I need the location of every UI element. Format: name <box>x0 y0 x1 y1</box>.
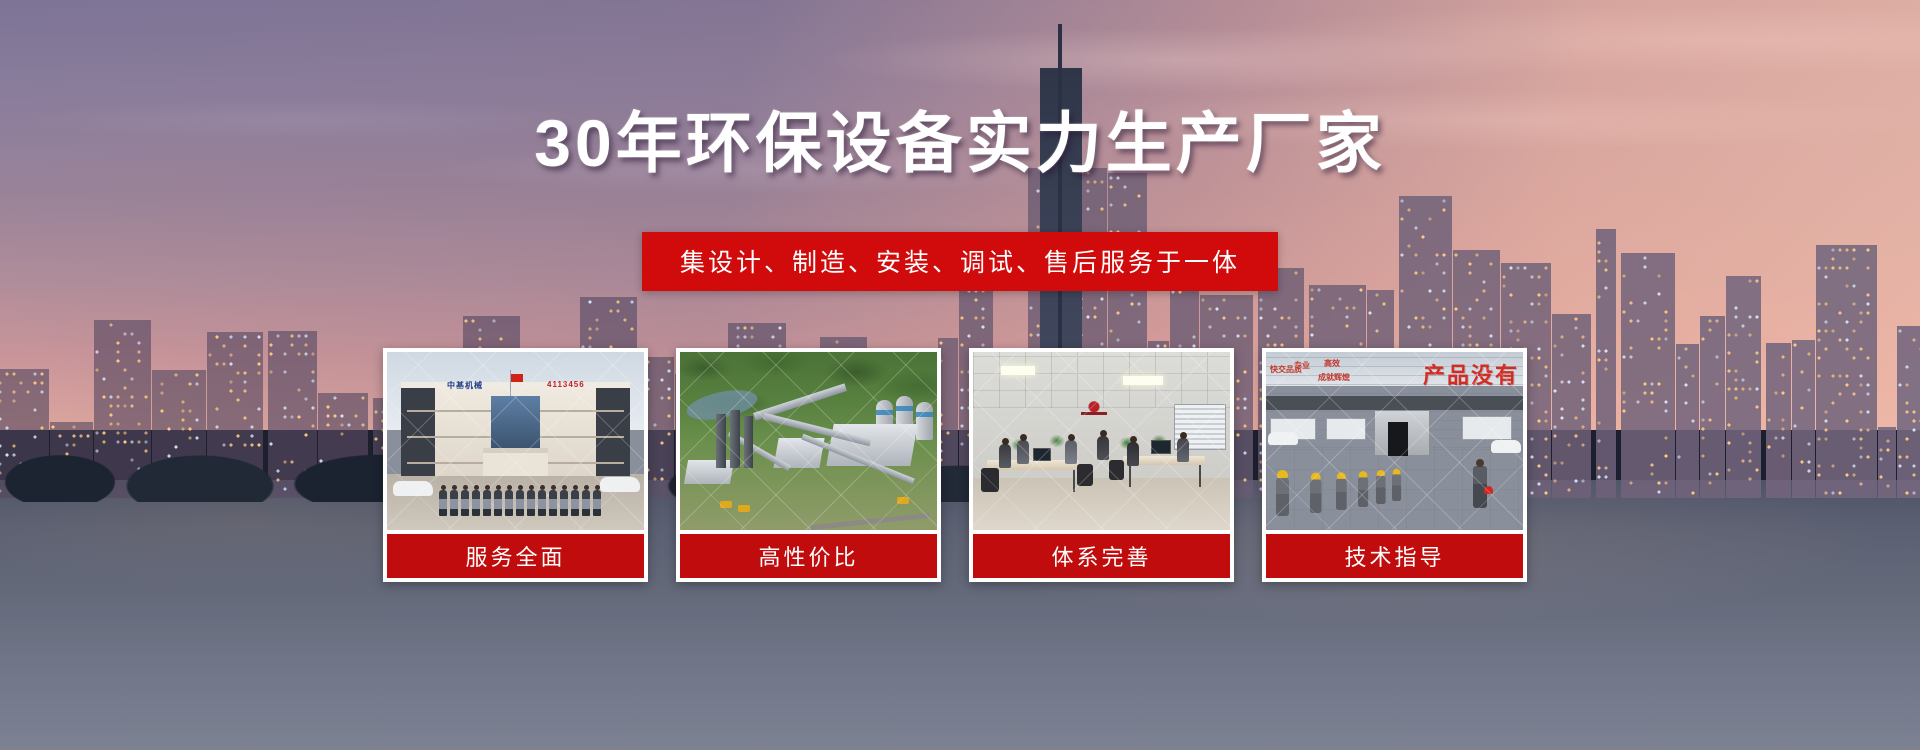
wall-small-text-3: 高效 <box>1324 360 1340 369</box>
wall-slogan-text: 产品没有 <box>1423 358 1519 390</box>
company-headquarters-photo: 中基机械 4113456 <box>387 352 644 530</box>
feature-card-label: 高性价比 <box>680 534 937 578</box>
wall-logo-icon <box>1077 398 1111 420</box>
feature-card-list: 中基机械 4113456 服务全面 <box>383 348 1527 582</box>
feature-card[interactable]: 产品没有 快交品质 专业 高效 成就辉煌 <box>1262 348 1527 582</box>
feature-card[interactable]: 高性价比 <box>676 348 941 582</box>
building-phone-text: 4113456 <box>547 380 585 389</box>
feature-card[interactable]: 中基机械 4113456 服务全面 <box>383 348 648 582</box>
feature-card-label: 体系完善 <box>973 534 1230 578</box>
feature-card-label: 技术指导 <box>1266 534 1523 578</box>
page-title: 30年环保设备实力生产厂家 <box>0 108 1920 179</box>
banner-content: 30年环保设备实力生产厂家 集设计、制造、安装、调试、售后服务于一体 <box>0 0 1920 750</box>
subtitle-badge: 集设计、制造、安装、调试、售后服务于一体 <box>642 232 1278 291</box>
feature-card[interactable]: 体系完善 <box>969 348 1234 582</box>
workshop-workers-training-photo: 产品没有 快交品质 专业 高效 成就辉煌 <box>1266 352 1523 530</box>
building-sign-text: 中基机械 <box>447 380 483 391</box>
office-interior-staff-photo <box>973 352 1230 530</box>
subtitle-wrap: 集设计、制造、安装、调试、售后服务于一体 <box>0 232 1920 291</box>
wall-small-text-2: 专业 <box>1294 362 1310 371</box>
hero-banner: 30年环保设备实力生产厂家 集设计、制造、安装、调试、售后服务于一体 <box>0 0 1920 750</box>
wall-small-text-4: 成就辉煌 <box>1318 374 1350 383</box>
feature-card-label: 服务全面 <box>387 534 644 578</box>
aerial-factory-plant-photo <box>680 352 937 530</box>
